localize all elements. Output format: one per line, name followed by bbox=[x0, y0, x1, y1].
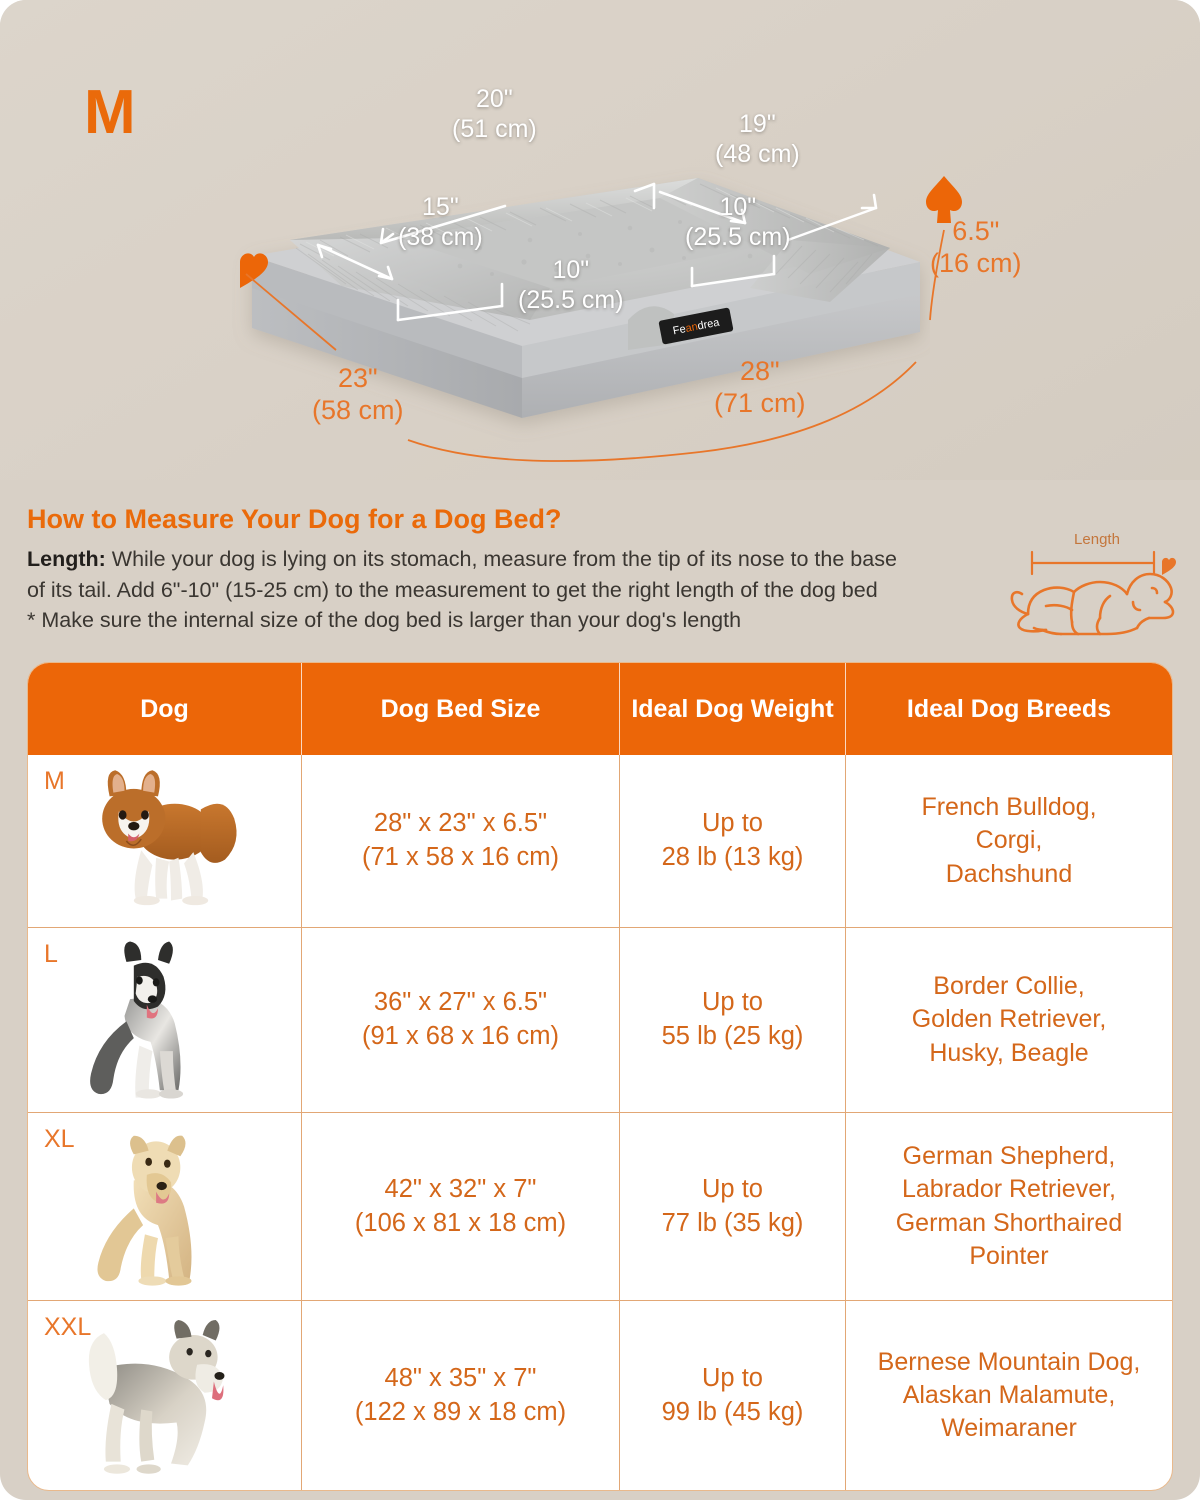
bed-size-metric-l: (91 x 68 x 16 cm) bbox=[362, 1022, 559, 1050]
column-header-dog: Dog bbox=[28, 663, 302, 755]
size-chart-table: Dog Dog Bed Size Ideal Dog Weight Ideal … bbox=[27, 662, 1173, 1491]
dog-outline-icon bbox=[1012, 574, 1173, 634]
dimension-label-outer-width: 23" (58 cm) bbox=[312, 362, 404, 427]
cell-bed-size-m: 28" x 23" x 6.5" (71 x 58 x 16 cm) bbox=[302, 755, 620, 927]
cell-dog-m: M bbox=[28, 755, 302, 927]
dimension-label-outer-length: 28" (71 cm) bbox=[714, 355, 806, 420]
cell-dog-xxl: XXL bbox=[28, 1301, 302, 1490]
breeds-text-m: French Bulldog, Corgi, Dachshund bbox=[921, 791, 1096, 891]
product-hero: M bbox=[0, 0, 1200, 480]
column-header-bed-size: Dog Bed Size bbox=[302, 663, 620, 755]
infographic-page: M bbox=[0, 0, 1200, 1500]
labrador-photo bbox=[36, 1119, 293, 1294]
cell-breeds-l: Border Collie, Golden Retriever, Husky, … bbox=[846, 928, 1172, 1112]
dog-diagram-label: Length bbox=[1074, 531, 1120, 548]
breeds-text-l: Border Collie, Golden Retriever, Husky, … bbox=[912, 970, 1107, 1070]
table-body: M bbox=[28, 755, 1172, 1490]
breeds-text-xl: German Shepherd, Labrador Retriever, Ger… bbox=[896, 1140, 1123, 1273]
bed-size-imperial-m: 28" x 23" x 6.5" bbox=[374, 809, 547, 837]
column-header-breeds: Ideal Dog Breeds bbox=[846, 663, 1172, 755]
bed-size-imperial-xxl: 48" x 35" x 7" bbox=[385, 1364, 537, 1392]
cell-weight-l: Up to 55 lb (25 kg) bbox=[620, 928, 846, 1112]
weight-line1-m: Up to bbox=[702, 809, 763, 837]
heart-icon bbox=[1162, 558, 1176, 575]
breeds-text-xxl: Bernese Mountain Dog, Alaskan Malamute, … bbox=[878, 1346, 1141, 1446]
measure-length-label: Length: bbox=[27, 547, 106, 571]
cell-breeds-m: French Bulldog, Corgi, Dachshund bbox=[846, 755, 1172, 927]
heart-marker-left bbox=[240, 253, 268, 288]
cell-breeds-xl: German Shepherd, Labrador Retriever, Ger… bbox=[846, 1113, 1172, 1300]
measure-line-2: of its tail. Add 6"-10" (15-25 cm) to th… bbox=[27, 578, 878, 602]
cell-dog-xl: XL bbox=[28, 1113, 302, 1300]
dog-length-diagram: Length bbox=[1002, 522, 1192, 652]
border-collie-photo bbox=[36, 934, 293, 1106]
bed-size-imperial-l: 36" x 27" x 6.5" bbox=[374, 988, 547, 1016]
weight-line2-xxl: 99 lb (45 kg) bbox=[662, 1398, 804, 1426]
measure-section-title: How to Measure Your Dog for a Dog Bed? bbox=[27, 504, 562, 535]
column-header-weight: Ideal Dog Weight bbox=[620, 663, 846, 755]
measure-line-1: While your dog is lying on its stomach, … bbox=[106, 547, 897, 571]
bed-size-metric-xl: (106 x 81 x 18 cm) bbox=[355, 1209, 566, 1237]
weight-line1-xxl: Up to bbox=[702, 1364, 763, 1392]
bed-size-metric-m: (71 x 58 x 16 cm) bbox=[362, 843, 559, 871]
cell-weight-m: Up to 28 lb (13 kg) bbox=[620, 755, 846, 927]
table-row: XXL bbox=[28, 1300, 1172, 1490]
table-row: M bbox=[28, 755, 1172, 927]
weight-line1-xl: Up to bbox=[702, 1175, 763, 1203]
cell-weight-xxl: Up to 99 lb (45 kg) bbox=[620, 1301, 846, 1490]
malamute-photo bbox=[36, 1307, 293, 1484]
weight-line2-l: 55 lb (25 kg) bbox=[662, 1022, 804, 1050]
bed-size-metric-xxl: (122 x 89 x 18 cm) bbox=[355, 1398, 566, 1426]
corgi-photo bbox=[36, 761, 293, 921]
dimension-label-outer-height: 6.5" (16 cm) bbox=[930, 215, 1022, 280]
measure-section-body: Length: While your dog is lying on its s… bbox=[27, 544, 977, 636]
cell-bed-size-xxl: 48" x 35" x 7" (122 x 89 x 18 cm) bbox=[302, 1301, 620, 1490]
table-header-row: Dog Dog Bed Size Ideal Dog Weight Ideal … bbox=[28, 663, 1172, 755]
table-row: L bbox=[28, 927, 1172, 1112]
cell-bed-size-xl: 42" x 32" x 7" (106 x 81 x 18 cm) bbox=[302, 1113, 620, 1300]
weight-line2-m: 28 lb (13 kg) bbox=[662, 843, 804, 871]
weight-line2-xl: 77 lb (35 kg) bbox=[662, 1209, 804, 1237]
weight-line1-l: Up to bbox=[702, 988, 763, 1016]
measure-line-3: * Make sure the internal size of the dog… bbox=[27, 608, 741, 632]
bed-size-imperial-xl: 42" x 32" x 7" bbox=[385, 1175, 537, 1203]
cell-bed-size-l: 36" x 27" x 6.5" (91 x 68 x 16 cm) bbox=[302, 928, 620, 1112]
cell-breeds-xxl: Bernese Mountain Dog, Alaskan Malamute, … bbox=[846, 1301, 1172, 1490]
cell-weight-xl: Up to 77 lb (35 kg) bbox=[620, 1113, 846, 1300]
cell-dog-l: L bbox=[28, 928, 302, 1112]
table-row: XL bbox=[28, 1112, 1172, 1300]
